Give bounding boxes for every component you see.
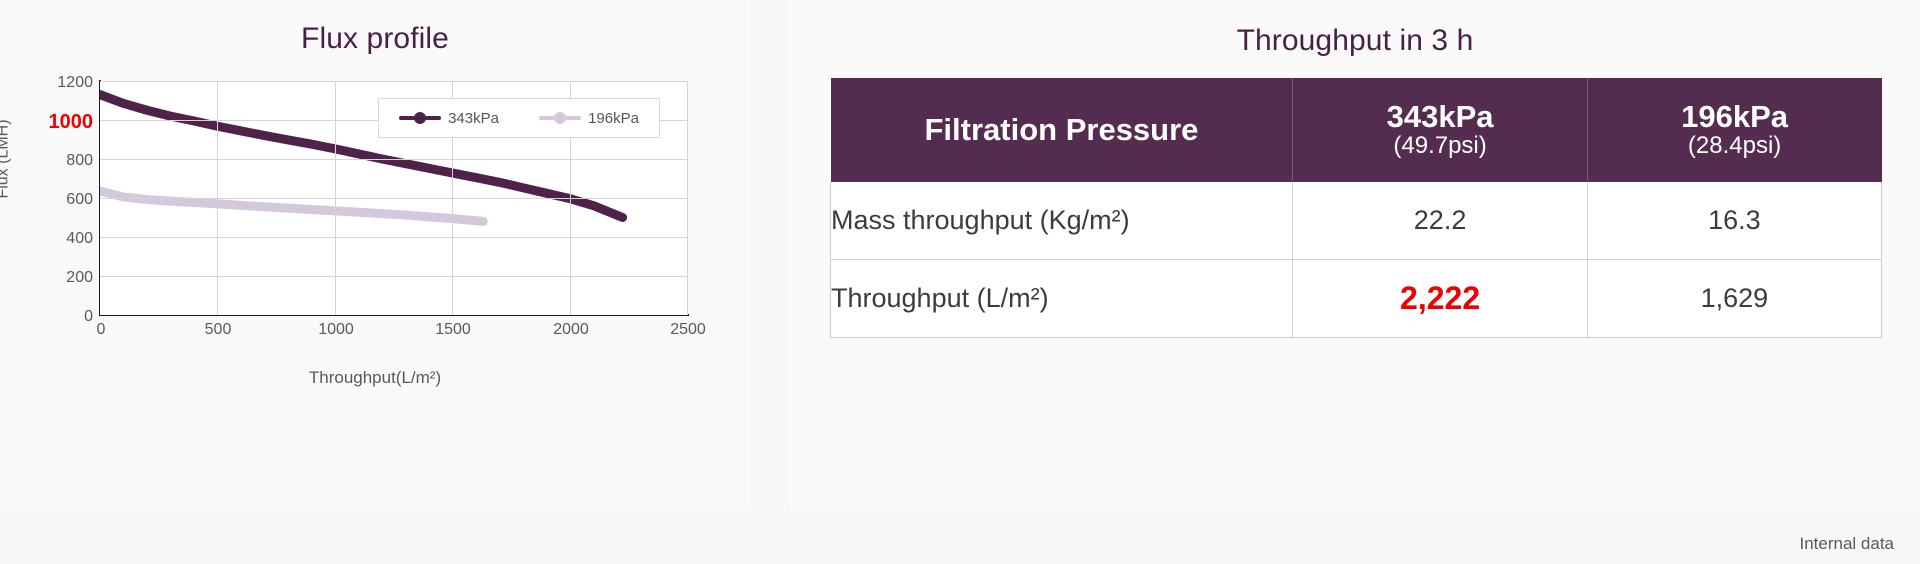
x-tick-1500: 1500 bbox=[418, 322, 488, 338]
chart-legend[interactable]: 343kPa 196kPa bbox=[378, 98, 660, 138]
cell-throughput-196kPa: 1,629 bbox=[1587, 260, 1881, 338]
header-sub-343kPa: (49.7psi) bbox=[1293, 133, 1586, 160]
x-tick-500: 500 bbox=[183, 322, 253, 338]
chart-y-axis-label: Flux (LMH) bbox=[0, 119, 13, 198]
chart-y-ticks: 1200 1000 800 600 400 200 0 bbox=[27, 0, 93, 420]
legend-item-196kPa[interactable]: 196kPa bbox=[539, 110, 639, 127]
header-main-filtration-pressure: Filtration Pressure bbox=[831, 113, 1293, 146]
gridline-x2500 bbox=[687, 81, 688, 315]
row-label-mass-throughput: Mass throughput (Kg/m²) bbox=[831, 182, 1293, 260]
table-body: Mass throughput (Kg/m²) 22.2 16.3 Throug… bbox=[831, 182, 1882, 338]
header-cell-196kPa: 196kPa (28.4psi) bbox=[1587, 78, 1881, 182]
y-tick-600: 600 bbox=[33, 192, 93, 208]
y-tick-200: 200 bbox=[33, 270, 93, 286]
gridline-x500 bbox=[217, 81, 218, 315]
chart-x-ticks: 0 500 1000 1500 2000 2500 bbox=[0, 322, 750, 352]
row-label-throughput: Throughput (L/m²) bbox=[831, 260, 1293, 338]
flux-profile-card: Flux profile Flux (LMH) 1200 1000 800 60… bbox=[0, 0, 750, 510]
series-line-196kPa bbox=[100, 191, 483, 221]
gridline-1200 bbox=[100, 81, 688, 82]
legend-marker-196kPa-icon bbox=[539, 112, 581, 124]
gridline-x1000 bbox=[335, 81, 336, 315]
x-tick-2000: 2000 bbox=[536, 322, 606, 338]
y-tick-800: 800 bbox=[33, 153, 93, 169]
y-tick-1200: 1200 bbox=[33, 75, 93, 91]
table-row: Throughput (L/m²) 2,222 1,629 bbox=[831, 260, 1882, 338]
header-cell-343kPa: 343kPa (49.7psi) bbox=[1293, 78, 1587, 182]
throughput-table: Filtration Pressure 343kPa (49.7psi) 196… bbox=[830, 78, 1882, 338]
cell-mass-throughput-196kPa: 16.3 bbox=[1587, 182, 1881, 260]
legend-marker-343kPa-icon bbox=[399, 112, 441, 124]
x-tick-1000: 1000 bbox=[301, 322, 371, 338]
gridline-200 bbox=[100, 276, 688, 277]
legend-item-343kPa[interactable]: 343kPa bbox=[399, 110, 499, 127]
header-main-196kPa: 196kPa bbox=[1588, 100, 1882, 133]
cell-throughput-343kPa: 2,222 bbox=[1293, 260, 1587, 338]
chart-title: Flux profile bbox=[0, 22, 750, 56]
table-row: Mass throughput (Kg/m²) 22.2 16.3 bbox=[831, 182, 1882, 260]
table-title: Throughput in 3 h bbox=[790, 24, 1920, 58]
x-tick-2500: 2500 bbox=[653, 322, 723, 338]
gridline-600 bbox=[100, 198, 688, 199]
header-cell-filtration-pressure: Filtration Pressure bbox=[831, 78, 1293, 182]
table-header: Filtration Pressure 343kPa (49.7psi) 196… bbox=[831, 78, 1882, 182]
header-sub-196kPa: (28.4psi) bbox=[1588, 133, 1882, 160]
throughput-table-card: Throughput in 3 h Filtration Pressure 34… bbox=[790, 0, 1920, 510]
x-tick-0: 0 bbox=[66, 322, 136, 338]
chart-x-axis-label: Throughput(L/m²) bbox=[0, 368, 750, 388]
chart-plot-wrapper: 343kPa 196kPa bbox=[100, 81, 688, 315]
slide-stage: Flux profile Flux (LMH) 1200 1000 800 60… bbox=[0, 0, 1920, 564]
table-header-row: Filtration Pressure 343kPa (49.7psi) 196… bbox=[831, 78, 1882, 182]
gridline-400 bbox=[100, 237, 688, 238]
y-tick-1000-highlight: 1000 bbox=[33, 112, 93, 132]
gridline-800 bbox=[100, 159, 688, 160]
legend-label-343kPa: 343kPa bbox=[448, 110, 499, 127]
legend-label-196kPa: 196kPa bbox=[588, 110, 639, 127]
header-main-343kPa: 343kPa bbox=[1293, 100, 1586, 133]
internal-data-note: Internal data bbox=[1799, 534, 1894, 554]
cell-mass-throughput-343kPa: 22.2 bbox=[1293, 182, 1587, 260]
y-tick-400: 400 bbox=[33, 231, 93, 247]
